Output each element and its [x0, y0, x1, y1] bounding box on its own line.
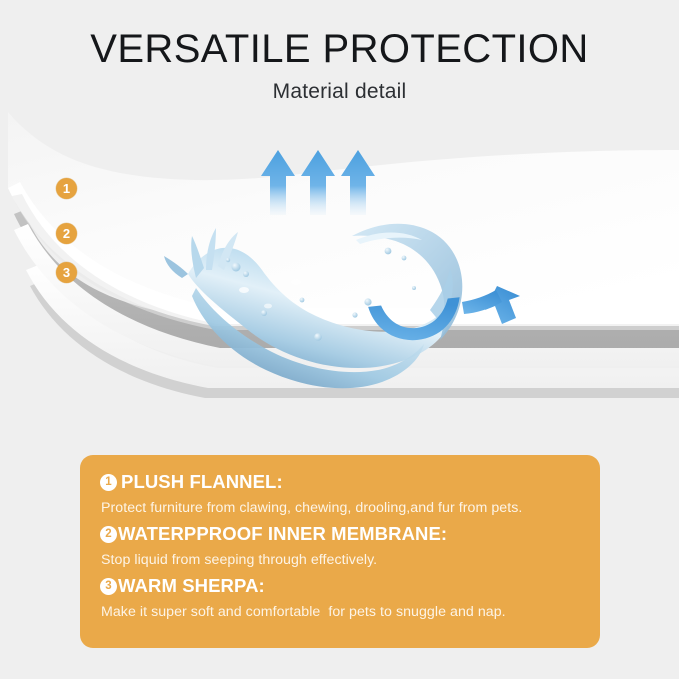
- page-subtitle: Material detail: [0, 72, 679, 105]
- feature-number-badge-2: 2: [100, 526, 117, 543]
- feature-heading: 1 PLUSH FLANNEL:: [100, 469, 580, 495]
- infographic-page: VERSATILE PROTECTION Material detail: [0, 0, 679, 679]
- layer-marker-2: 2: [56, 223, 77, 244]
- layer-marker-3: 3: [56, 262, 77, 283]
- feature-panel: 1 PLUSH FLANNEL: Protect furniture from …: [80, 455, 600, 648]
- feature-heading: 3 WARM SHERPA:: [100, 573, 580, 599]
- material-layers-illustration: [0, 110, 679, 440]
- feature-description-1: Protect furniture from clawing, chewing,…: [100, 495, 580, 519]
- page-title: VERSATILE PROTECTION: [0, 0, 679, 72]
- feature-description-2: Stop liquid from seeping through effecti…: [100, 547, 580, 571]
- feature-item-warm-sherpa: 3 WARM SHERPA: Make it super soft and co…: [100, 573, 580, 623]
- feature-number-badge-1: 1: [100, 474, 117, 491]
- layer-marker-1: 1: [56, 178, 77, 199]
- feature-item-plush-flannel: 1 PLUSH FLANNEL: Protect furniture from …: [100, 469, 580, 519]
- feature-title-1: PLUSH FLANNEL:: [121, 469, 283, 495]
- feature-number-badge-3: 3: [100, 578, 117, 595]
- feature-title-2: WATERPPROOF INNER MEMBRANE:: [118, 521, 447, 547]
- feature-item-waterproof-membrane: 2 WATERPPROOF INNER MEMBRANE: Stop liqui…: [100, 521, 580, 571]
- repel-arrows-group: [261, 150, 375, 215]
- feature-title-3: WARM SHERPA:: [118, 573, 265, 599]
- feature-heading: 2 WATERPPROOF INNER MEMBRANE:: [100, 521, 580, 547]
- feature-description-3: Make it super soft and comfortable for p…: [100, 599, 580, 623]
- header: VERSATILE PROTECTION Material detail: [0, 0, 679, 105]
